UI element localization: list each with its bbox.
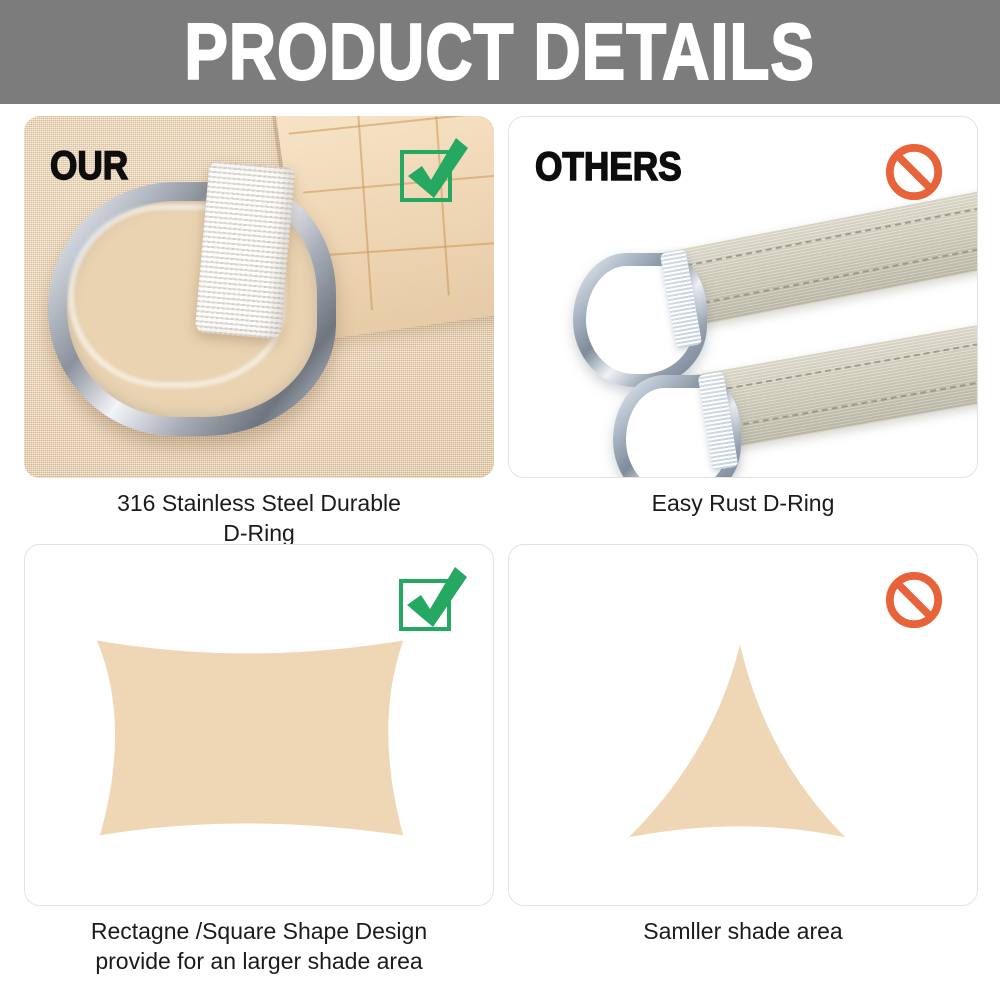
others-dring-image: OTHERS: [508, 116, 978, 478]
panel-label-others: OTHERS: [535, 147, 682, 187]
panel-label-our: OUR: [50, 146, 128, 186]
others-shape-image: [508, 544, 978, 906]
caption-line: Rectagne /Square Shape Design: [24, 916, 494, 946]
caption-line: provide for an larger shade area: [24, 946, 494, 976]
prohibition-icon: [885, 571, 943, 629]
caption-others-dring: Easy Rust D-Ring: [508, 488, 978, 518]
panel-our-shape: Rectagne /Square Shape Design provide fo…: [24, 544, 494, 976]
stitch: [289, 116, 494, 135]
stitch: [318, 241, 494, 257]
prohibition-badge: [881, 137, 951, 207]
stitch: [357, 116, 373, 310]
prohibition-icon: [885, 143, 943, 201]
check-badge: [397, 565, 467, 635]
caption-our-shape: Rectagne /Square Shape Design provide fo…: [24, 916, 494, 976]
caption-others-shape: Samller shade area: [508, 916, 978, 946]
page-title: PRODUCT DETAILS: [185, 12, 816, 92]
header-bar: PRODUCT DETAILS: [0, 0, 1000, 104]
panel-our-dring: OUR 316 Stainless Steel Durable D-Ring: [24, 116, 494, 548]
caption-our-dring: 316 Stainless Steel Durable D-Ring: [24, 488, 494, 548]
check-icon: [398, 136, 468, 206]
our-dring-image: OUR: [24, 116, 494, 478]
prohibition-badge: [881, 565, 951, 635]
comparison-grid: OUR 316 Stainless Steel Durable D-Ring: [0, 104, 1000, 1000]
our-shape-image: [24, 544, 494, 906]
check-icon: [397, 565, 467, 635]
webbing-loop: [195, 161, 296, 340]
caption-line: 316 Stainless Steel Durable: [24, 488, 494, 518]
panel-others-dring: OTHERS Easy Rust D-Ring: [508, 116, 978, 518]
caption-line: Easy Rust D-Ring: [508, 488, 978, 518]
caption-line: Samller shade area: [508, 916, 978, 946]
check-badge: [398, 136, 468, 206]
panel-others-shape: Samller shade area: [508, 544, 978, 946]
